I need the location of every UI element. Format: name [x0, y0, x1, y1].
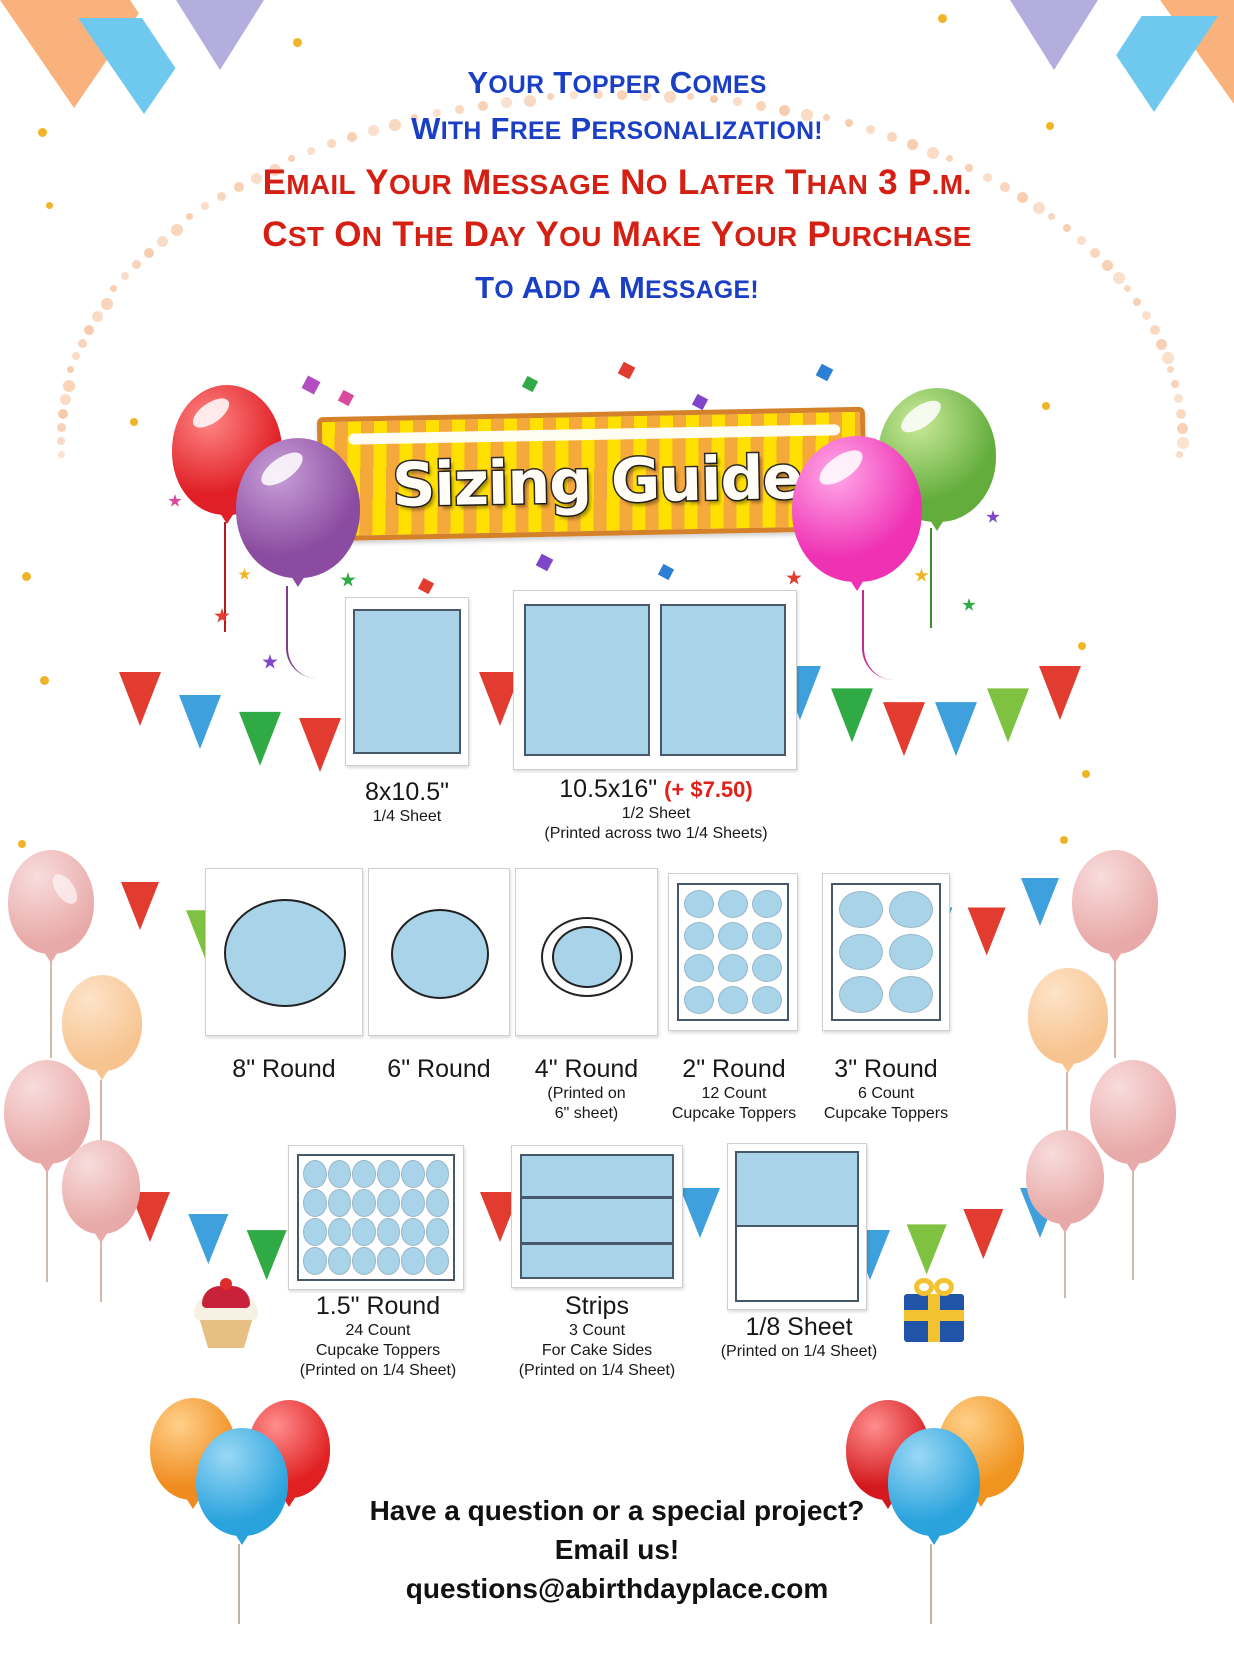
bunting-triangle — [987, 688, 1029, 742]
label-eighth-sheet-sub1: (Printed on 1/4 Sheet) — [690, 1342, 908, 1362]
confetti-square — [692, 394, 708, 410]
bunting-triangle — [831, 688, 873, 742]
half-sheet-fill-left — [524, 604, 650, 756]
topper-dot — [328, 1189, 352, 1217]
bunting-triangle — [963, 1209, 1003, 1259]
topper-dot — [328, 1218, 352, 1246]
confetti-square — [816, 364, 834, 382]
balloon-pastel-right-3 — [1090, 1060, 1176, 1164]
balloon-pastel-left-1 — [8, 850, 94, 954]
header-message: YOUR TOPPER COMES WITH FREE PERSONALIZAT… — [0, 62, 1234, 315]
caption-round-3: 3" Round 6 Count Cupcake Toppers — [800, 1055, 972, 1124]
round-1-5-dot-grid — [303, 1160, 449, 1275]
confetti-square — [302, 376, 321, 395]
header-line-2: WITH FREE PERSONALIZATION! — [0, 107, 1234, 154]
topper-dot — [889, 891, 933, 928]
round-1-5-grid-frame — [297, 1154, 455, 1281]
topper-dot — [303, 1189, 327, 1217]
topper-dot — [839, 976, 883, 1013]
balloon-string-pastel-right-4 — [1064, 1232, 1066, 1298]
balloon-pastel-left-2 — [62, 975, 142, 1071]
confetti-dot — [22, 572, 31, 581]
round-3-grid-frame — [831, 883, 941, 1021]
footer-line-2: Email us! — [0, 1530, 1234, 1569]
banner-highlight — [348, 424, 840, 444]
bunting-triangle — [179, 695, 221, 749]
topper-dot — [718, 986, 748, 1014]
round-6-circle — [391, 909, 489, 999]
round-2-dot-grid — [684, 890, 782, 1014]
balloon-string-pastel-left-1 — [50, 962, 52, 1058]
topper-dot — [377, 1247, 401, 1275]
topper-dot — [752, 922, 782, 950]
round-8-circle — [224, 899, 346, 1007]
topper-dot — [401, 1160, 425, 1188]
balloon-string-green — [930, 528, 960, 628]
bunting-triangle — [907, 1224, 947, 1274]
confetti-dot — [1082, 770, 1090, 778]
topper-dot — [377, 1218, 401, 1246]
label-strips-sub3: (Printed on 1/4 Sheet) — [487, 1361, 707, 1381]
confetti-square — [658, 564, 674, 580]
caption-quarter-sheet: 8x10.5" 1/4 Sheet — [307, 778, 507, 827]
confetti-dot — [938, 14, 947, 23]
header-line-3: EMAIL YOUR MESSAGE NO LATER THAN 3 P.M. — [0, 158, 1234, 210]
label-strips-sub2: For Cake Sides — [487, 1341, 707, 1361]
card-half-sheet — [513, 590, 797, 770]
confetti-star — [914, 568, 929, 583]
card-round-6 — [368, 868, 510, 1036]
caption-half-sheet: 10.5x16" (+ $7.50) 1/2 Sheet (Printed ac… — [500, 775, 812, 844]
topper-dot — [718, 922, 748, 950]
balloon-pastel-right-1 — [1072, 850, 1158, 954]
caption-eighth-sheet: 1/8 Sheet (Printed on 1/4 Sheet) — [690, 1313, 908, 1362]
topper-dot — [839, 934, 883, 971]
bunting-triangle — [247, 1230, 287, 1280]
topper-dot — [352, 1218, 376, 1246]
label-round-2-sub2: Cupcake Toppers — [648, 1104, 820, 1124]
bunting-triangle — [239, 712, 281, 766]
eighth-sheet-blank-half — [735, 1227, 859, 1302]
label-eighth-sheet-title: 1/8 Sheet — [690, 1313, 908, 1342]
topper-dot — [426, 1160, 450, 1188]
balloon-pastel-right-2 — [1028, 968, 1108, 1064]
bunting-triangle — [1021, 878, 1059, 926]
round-4-circle — [552, 926, 622, 988]
confetti-star — [986, 510, 1000, 524]
quarter-sheet-fill — [353, 609, 461, 754]
label-round-3-sub1: 6 Count — [800, 1084, 972, 1104]
topper-dot — [426, 1218, 450, 1246]
confetti-square — [338, 390, 354, 406]
topper-dot — [752, 954, 782, 982]
topper-dot — [426, 1189, 450, 1217]
bunting-triangle — [680, 1188, 720, 1238]
label-round-3-sub2: Cupcake Toppers — [800, 1104, 972, 1124]
footer-line-1: Have a question or a special project? — [0, 1491, 1234, 1530]
bunting-triangle — [968, 907, 1006, 955]
confetti-square — [522, 376, 538, 392]
topper-dot — [718, 954, 748, 982]
strip-divider-2 — [520, 1242, 674, 1245]
half-sheet-title-text: 10.5x16" — [559, 775, 657, 803]
topper-dot — [303, 1160, 327, 1188]
bunting-triangle — [119, 672, 161, 726]
balloon-string-magenta — [862, 590, 894, 680]
bunting-triangle — [883, 702, 925, 756]
label-quarter-sheet-title: 8x10.5" — [307, 778, 507, 807]
label-round-1-5-sub2: Cupcake Toppers — [268, 1341, 488, 1361]
card-round-3 — [822, 873, 950, 1031]
label-round-1-5-sub3: (Printed on 1/4 Sheet) — [268, 1361, 488, 1381]
cupcake-icon — [190, 1278, 262, 1348]
label-half-sheet-sub2: (Printed across two 1/4 Sheets) — [500, 824, 812, 844]
bunting-triangle — [121, 882, 159, 930]
bunting-triangle — [299, 718, 341, 772]
caption-round-2: 2" Round 12 Count Cupcake Toppers — [648, 1055, 820, 1124]
caption-strips: Strips 3 Count For Cake Sides (Printed o… — [487, 1292, 707, 1381]
footer-email[interactable]: questions@abirthdayplace.com — [0, 1569, 1234, 1608]
label-strips-sub1: 3 Count — [487, 1321, 707, 1341]
balloon-string-pastel-left-4 — [100, 1242, 102, 1302]
label-quarter-sheet-sub1: 1/4 Sheet — [307, 807, 507, 827]
topper-dot — [684, 890, 714, 918]
topper-dot — [328, 1247, 352, 1275]
bunting-triangle — [188, 1214, 228, 1264]
half-sheet-price: (+ $7.50) — [664, 777, 753, 802]
header-line-5: TO ADD A MESSAGE! — [0, 264, 1234, 315]
header-line-4: CST ON THE DAY YOU MAKE YOUR PURCHASE — [0, 210, 1234, 262]
label-round-2-title: 2" Round — [648, 1055, 820, 1084]
bunting-triangle — [935, 702, 977, 756]
card-quarter-sheet — [345, 597, 469, 766]
confetti-star — [786, 570, 802, 586]
label-half-sheet-title: 10.5x16" (+ $7.50) — [500, 775, 812, 804]
confetti-star — [262, 654, 278, 670]
topper-dot — [889, 976, 933, 1013]
confetti-dot — [1042, 402, 1050, 410]
balloon-pastel-right-4 — [1026, 1130, 1104, 1224]
card-round-1-5 — [288, 1145, 464, 1290]
banner-title: Sizing Guide — [323, 442, 872, 523]
confetti-dot — [293, 38, 302, 47]
card-round-2 — [668, 873, 798, 1031]
topper-dot — [352, 1160, 376, 1188]
half-sheet-fill-right — [660, 604, 786, 756]
confetti-dot — [1060, 836, 1068, 844]
balloon-purple — [236, 438, 360, 578]
topper-dot — [426, 1247, 450, 1275]
confetti-dot — [1078, 642, 1086, 650]
confetti-star — [168, 494, 182, 508]
topper-dot — [401, 1218, 425, 1246]
confetti-dot — [40, 676, 49, 685]
header-line-1: YOUR TOPPER COMES — [0, 62, 1234, 107]
topper-dot — [684, 922, 714, 950]
bunting-triangle — [1039, 666, 1081, 720]
topper-dot — [752, 986, 782, 1014]
topper-dot — [303, 1247, 327, 1275]
label-round-1-5-title: 1.5" Round — [268, 1292, 488, 1321]
card-round-8 — [205, 868, 363, 1036]
label-half-sheet-sub1: 1/2 Sheet — [500, 804, 812, 824]
balloon-string-pastel-right-1 — [1114, 962, 1116, 1058]
topper-dot — [401, 1247, 425, 1275]
balloon-string-purple — [286, 586, 316, 678]
confetti-star — [962, 598, 976, 612]
card-strips — [511, 1145, 683, 1288]
balloon-string-pastel-right-3 — [1132, 1172, 1134, 1280]
footer-contact: Have a question or a special project? Em… — [0, 1491, 1234, 1608]
label-round-1-5-sub1: 24 Count — [268, 1321, 488, 1341]
label-round-3-title: 3" Round — [800, 1055, 972, 1084]
card-round-4 — [515, 868, 658, 1036]
confetti-dot — [130, 418, 138, 426]
topper-dot — [684, 954, 714, 982]
round-3-dot-grid — [839, 891, 933, 1013]
label-strips-title: Strips — [487, 1292, 707, 1321]
topper-dot — [718, 890, 748, 918]
label-round-2-sub1: 12 Count — [648, 1084, 820, 1104]
card-eighth-sheet — [727, 1143, 867, 1310]
balloon-magenta — [792, 436, 922, 582]
topper-dot — [328, 1160, 352, 1188]
topper-dot — [889, 934, 933, 971]
confetti-square — [536, 554, 554, 572]
balloon-pastel-left-4 — [62, 1140, 140, 1234]
strip-divider-1 — [520, 1196, 674, 1199]
topper-dot — [839, 891, 883, 928]
sizing-guide-banner: Sizing Guide — [317, 407, 867, 541]
topper-dot — [401, 1189, 425, 1217]
round-2-grid-frame — [677, 883, 789, 1021]
confetti-dot — [18, 840, 26, 848]
topper-dot — [377, 1189, 401, 1217]
confetti-star — [340, 572, 356, 588]
caption-round-1-5: 1.5" Round 24 Count Cupcake Toppers (Pri… — [268, 1292, 488, 1381]
topper-dot — [377, 1160, 401, 1188]
gift-icon — [898, 1276, 970, 1346]
strips-fill — [520, 1154, 674, 1279]
eighth-sheet-fill — [735, 1151, 859, 1227]
topper-dot — [352, 1247, 376, 1275]
balloon-string-pastel-left-3 — [46, 1172, 48, 1282]
topper-dot — [352, 1189, 376, 1217]
topper-dot — [752, 890, 782, 918]
topper-dot — [684, 986, 714, 1014]
confetti-square — [418, 578, 434, 594]
confetti-square — [618, 362, 636, 380]
topper-dot — [303, 1218, 327, 1246]
